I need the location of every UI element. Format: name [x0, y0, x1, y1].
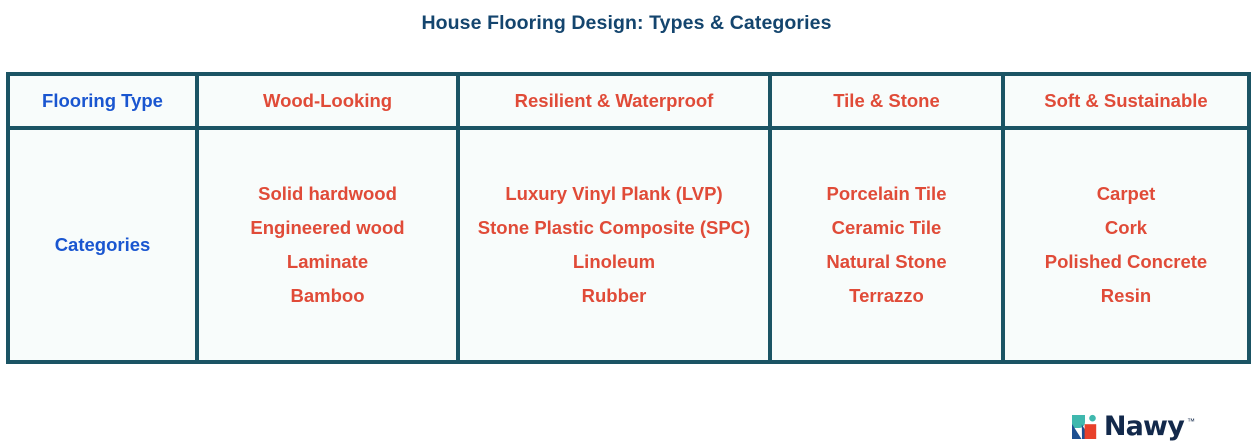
list-item: Luxury Vinyl Plank (LVP): [468, 177, 760, 211]
list-item: Cork: [1013, 211, 1239, 245]
nawy-logo: Nawy ™: [1071, 413, 1195, 440]
column-header-soft-sustainable: Soft & Sustainable: [1003, 74, 1249, 128]
list-item: Linoleum: [468, 245, 760, 279]
table-header: Flooring Type Wood-Looking Resilient & W…: [8, 74, 1249, 128]
list-item: Porcelain Tile: [780, 177, 993, 211]
list-item: Laminate: [207, 245, 448, 279]
table-header-row: Flooring Type Wood-Looking Resilient & W…: [8, 74, 1249, 128]
list-item: Natural Stone: [780, 245, 993, 279]
column-header-flooring-type: Flooring Type: [8, 74, 197, 128]
cell-tile-stone-categories: Porcelain Tile Ceramic Tile Natural Ston…: [770, 128, 1003, 362]
flooring-table-container: Flooring Type Wood-Looking Resilient & W…: [6, 72, 1247, 364]
list-item: Rubber: [468, 279, 760, 313]
list-item: Carpet: [1013, 177, 1239, 211]
list-item: Resin: [1013, 279, 1239, 313]
list-item: Solid hardwood: [207, 177, 448, 211]
table-row: Categories Solid hardwood Engineered woo…: [8, 128, 1249, 362]
nawy-wordmark: Nawy: [1104, 413, 1184, 440]
list-item: Engineered wood: [207, 211, 448, 245]
flooring-table: Flooring Type Wood-Looking Resilient & W…: [6, 72, 1251, 364]
column-header-tile-stone: Tile & Stone: [770, 74, 1003, 128]
list-item: Polished Concrete: [1013, 245, 1239, 279]
list-item: Terrazzo: [780, 279, 993, 313]
row-label-categories: Categories: [8, 128, 197, 362]
column-header-resilient-waterproof: Resilient & Waterproof: [458, 74, 770, 128]
table-body: Categories Solid hardwood Engineered woo…: [8, 128, 1249, 362]
item-list-resilient-waterproof: Luxury Vinyl Plank (LVP) Stone Plastic C…: [460, 177, 768, 313]
item-list-tile-stone: Porcelain Tile Ceramic Tile Natural Ston…: [772, 177, 1001, 313]
page-title: House Flooring Design: Types & Categorie…: [0, 0, 1253, 35]
trademark-symbol: ™: [1187, 417, 1195, 426]
list-item: Stone Plastic Composite (SPC): [468, 211, 760, 245]
nawy-logo-icon: [1071, 414, 1098, 440]
list-item: Bamboo: [207, 279, 448, 313]
item-list-soft-sustainable: Carpet Cork Polished Concrete Resin: [1005, 177, 1247, 313]
cell-soft-sustainable-categories: Carpet Cork Polished Concrete Resin: [1003, 128, 1249, 362]
cell-wood-looking-categories: Solid hardwood Engineered wood Laminate …: [197, 128, 458, 362]
cell-resilient-waterproof-categories: Luxury Vinyl Plank (LVP) Stone Plastic C…: [458, 128, 770, 362]
list-item: Ceramic Tile: [780, 211, 993, 245]
column-header-wood-looking: Wood-Looking: [197, 74, 458, 128]
item-list-wood-looking: Solid hardwood Engineered wood Laminate …: [199, 177, 456, 313]
